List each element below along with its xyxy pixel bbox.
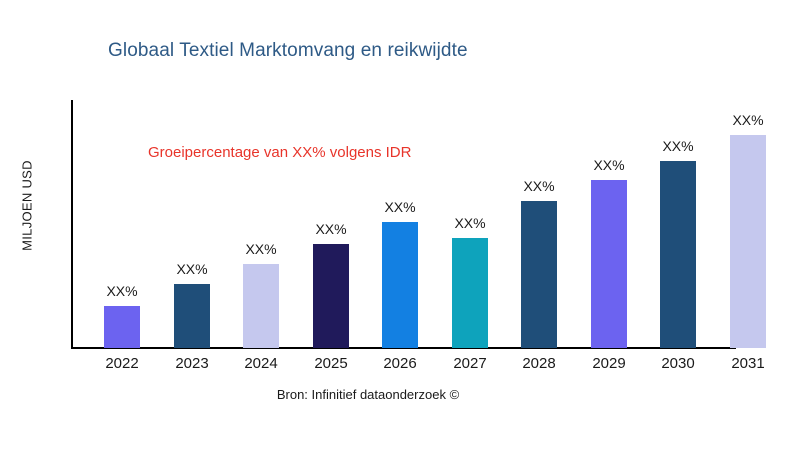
bar-2022[interactable] — [104, 306, 140, 348]
x-tick-2027: 2027 — [435, 355, 505, 372]
x-tick-2031: 2031 — [713, 355, 783, 372]
x-tick-2026: 2026 — [365, 355, 435, 372]
bar-value-label-2024: XX% — [231, 241, 291, 257]
source-caption: Bron: Infinitief dataonderzoek © — [0, 387, 736, 402]
bar-2028[interactable] — [521, 201, 557, 348]
bar-value-label-2025: XX% — [301, 221, 361, 237]
bar-value-label-2029: XX% — [579, 157, 639, 173]
bar-value-label-2026: XX% — [370, 199, 430, 215]
x-tick-2030: 2030 — [643, 355, 713, 372]
bar-2025[interactable] — [313, 244, 349, 348]
bar-2030[interactable] — [660, 161, 696, 348]
x-tick-2024: 2024 — [226, 355, 296, 372]
plot-area: XX%2022XX%2023XX%2024XX%2025XX%2026XX%20… — [0, 0, 800, 450]
bar-2029[interactable] — [591, 180, 627, 348]
bar-2023[interactable] — [174, 284, 210, 348]
x-tick-2022: 2022 — [87, 355, 157, 372]
bar-2027[interactable] — [452, 238, 488, 348]
x-tick-2028: 2028 — [504, 355, 574, 372]
x-tick-2023: 2023 — [157, 355, 227, 372]
bar-2026[interactable] — [382, 222, 418, 348]
bar-value-label-2031: XX% — [718, 112, 778, 128]
bar-value-label-2030: XX% — [648, 138, 708, 154]
bar-2024[interactable] — [243, 264, 279, 348]
x-tick-2025: 2025 — [296, 355, 366, 372]
bar-2031[interactable] — [730, 135, 766, 348]
chart-container: Globaal Textiel Marktomvang en reikwijdt… — [0, 0, 800, 450]
bar-value-label-2023: XX% — [162, 261, 222, 277]
bar-value-label-2028: XX% — [509, 178, 569, 194]
bar-value-label-2022: XX% — [92, 283, 152, 299]
x-tick-2029: 2029 — [574, 355, 644, 372]
bar-value-label-2027: XX% — [440, 215, 500, 231]
